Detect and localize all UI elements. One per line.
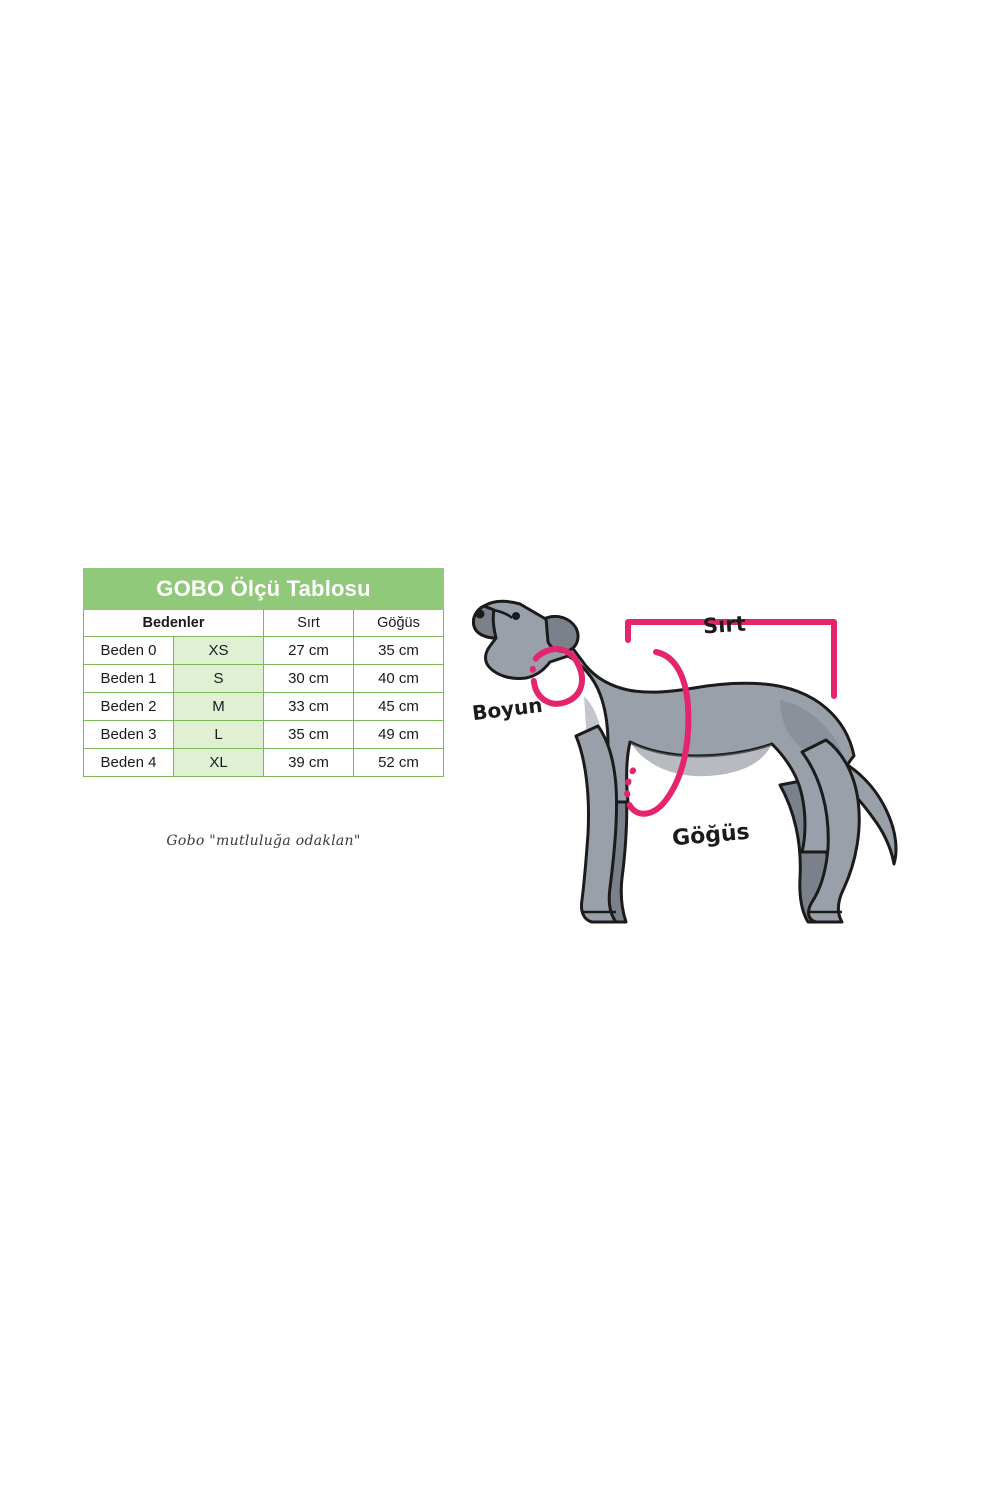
cell-sirt: 33 cm <box>264 693 354 721</box>
dog-measurement-illustration <box>450 560 950 960</box>
cell-beden: Beden 1 <box>84 665 174 693</box>
cell-sirt: 39 cm <box>264 749 354 777</box>
header-sirt: Sırt <box>264 610 354 637</box>
table-row: Beden 0 XS 27 cm 35 cm <box>84 637 444 665</box>
cell-sirt: 35 cm <box>264 721 354 749</box>
header-bedenler: Bedenler <box>84 610 264 637</box>
dog-nose <box>476 610 485 619</box>
table-title: GOBO Ölçü Tablosu <box>84 569 444 610</box>
cell-gogus: 35 cm <box>354 637 444 665</box>
cell-gogus: 52 cm <box>354 749 444 777</box>
cell-size: XL <box>174 749 264 777</box>
cell-beden: Beden 4 <box>84 749 174 777</box>
cell-beden: Beden 0 <box>84 637 174 665</box>
table-row: Beden 4 XL 39 cm 52 cm <box>84 749 444 777</box>
dog-ear <box>546 616 578 651</box>
page-canvas: GOBO Ölçü Tablosu Bedenler Sırt Göğüs Be… <box>0 0 1000 1500</box>
cell-beden: Beden 2 <box>84 693 174 721</box>
cell-size: L <box>174 721 264 749</box>
cell-gogus: 49 cm <box>354 721 444 749</box>
cell-size: S <box>174 665 264 693</box>
size-table: GOBO Ölçü Tablosu Bedenler Sırt Göğüs Be… <box>83 568 444 777</box>
table-title-row: GOBO Ölçü Tablosu <box>84 569 444 610</box>
cell-sirt: 27 cm <box>264 637 354 665</box>
table-header-row: Bedenler Sırt Göğüs <box>84 610 444 637</box>
brand-slogan: Gobo "mutluluğa odaklan" <box>83 833 444 849</box>
cell-gogus: 45 cm <box>354 693 444 721</box>
cell-size: M <box>174 693 264 721</box>
cell-gogus: 40 cm <box>354 665 444 693</box>
size-chart: GOBO Ölçü Tablosu Bedenler Sırt Göğüs Be… <box>83 568 444 777</box>
table-row: Beden 1 S 30 cm 40 cm <box>84 665 444 693</box>
header-gogus: Göğüs <box>354 610 444 637</box>
dog-front-leg-near <box>576 726 617 922</box>
table-row: Beden 2 M 33 cm 45 cm <box>84 693 444 721</box>
dog-eye <box>512 612 520 620</box>
cell-sirt: 30 cm <box>264 665 354 693</box>
table-row: Beden 3 L 35 cm 49 cm <box>84 721 444 749</box>
label-sirt: Sırt <box>702 612 746 639</box>
cell-size: XS <box>174 637 264 665</box>
cell-beden: Beden 3 <box>84 721 174 749</box>
